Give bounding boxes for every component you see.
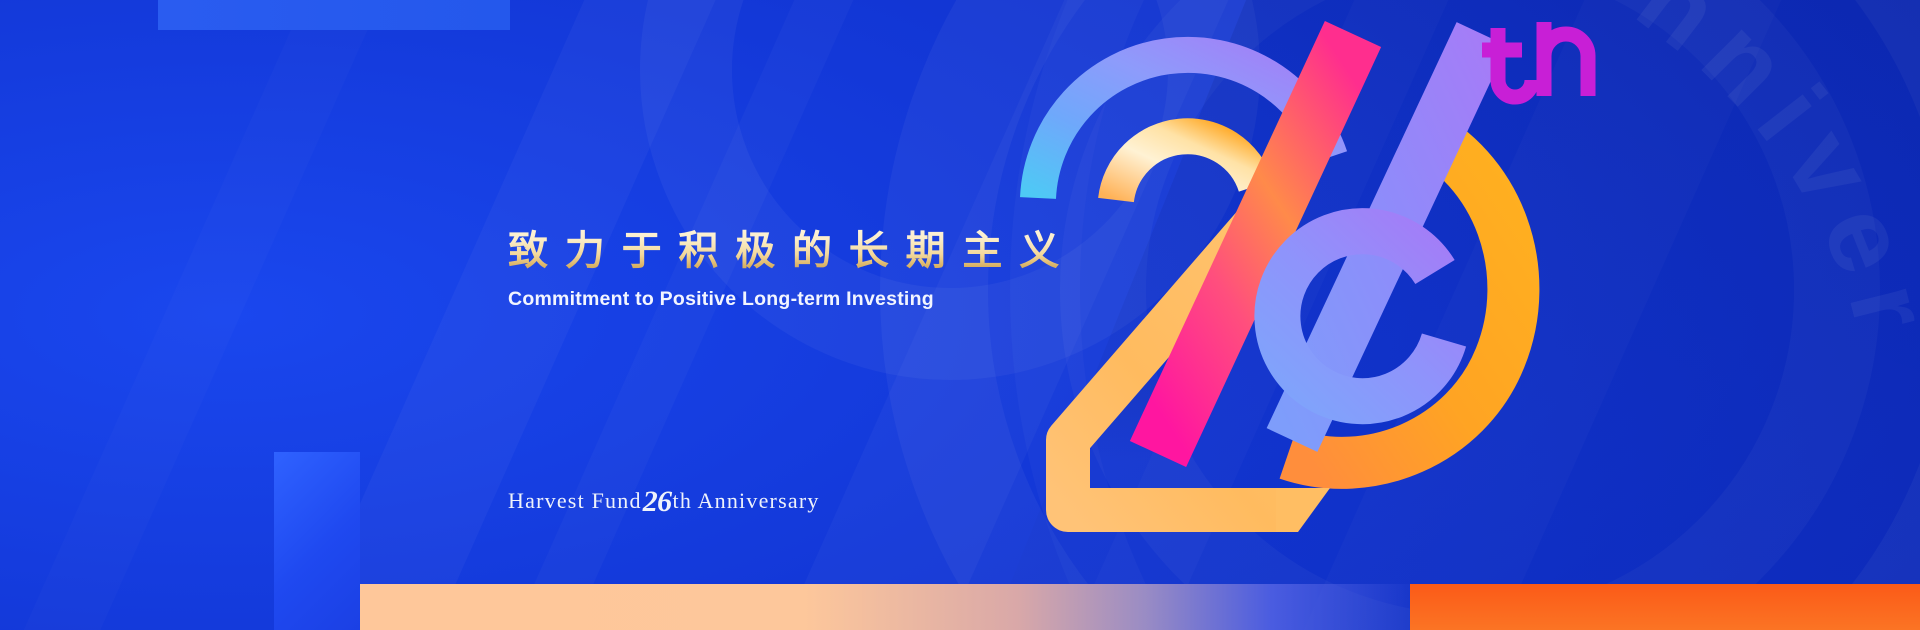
diagonal-streak — [0, 0, 484, 630]
accent-block-left-column — [274, 452, 360, 630]
signature-prefix: Harvest Fund — [508, 488, 642, 513]
signature-number: 26 — [642, 485, 673, 518]
svg-text:nniver: nniver — [1617, 0, 1920, 358]
signature-line: Harvest Fund26th Anniversary — [508, 482, 820, 516]
logo-two-base-tail — [1276, 488, 1330, 532]
accent-block-top-left — [158, 0, 510, 30]
headline-group: 致力于积极的长期主义 Commitment to Positive Long-t… — [508, 228, 1076, 311]
anniversary-logo-26th: 26 th — [1030, 10, 1570, 570]
logo-two-inner-arc — [1116, 136, 1256, 200]
diagonal-streak — [438, 0, 959, 630]
headline-english: Commitment to Positive Long-term Investi… — [508, 288, 1076, 311]
logo-th-h — [1544, 22, 1588, 96]
bottom-gradient-bar — [360, 584, 1420, 630]
signature-suffix: th Anniversary — [673, 488, 820, 513]
watermark-label: nniver — [1617, 0, 1920, 358]
headline-chinese: 致力于积极的长期主义 — [508, 228, 1076, 274]
bottom-orange-bar — [1410, 584, 1920, 630]
logo-th-ordinal — [1482, 22, 1588, 97]
watermark-anniversary-text: nniver — [1608, 0, 1920, 630]
logo-svg: 26 th — [1030, 10, 1570, 570]
anniversary-banner: nniver 致力于积极的长期主义 Commitment to Positive… — [0, 0, 1920, 630]
